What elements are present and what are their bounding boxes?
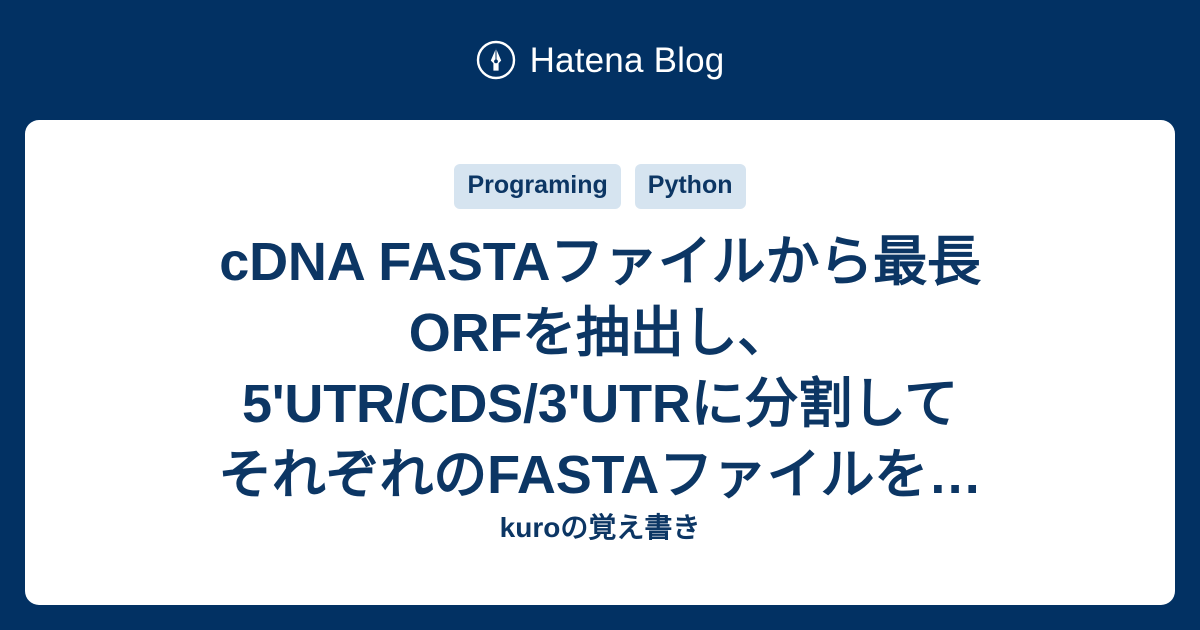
tag-python[interactable]: Python <box>635 164 746 209</box>
brand-name: Hatena Blog <box>530 43 725 78</box>
blog-name: kuroの覚え書き <box>500 511 701 545</box>
hatena-pen-nib-icon <box>476 40 516 80</box>
og-image-canvas: Hatena Blog Programing Python cDNA FASTA… <box>0 0 1200 630</box>
tag-programing[interactable]: Programing <box>454 164 620 209</box>
entry-card: Programing Python cDNA FASTAファイルから最長 ORF… <box>25 120 1175 605</box>
entry-title: cDNA FASTAファイルから最長 ORFを抽出し、 5'UTR/CDS/3'… <box>218 227 982 511</box>
entry-title-line-3: 5'UTR/CDS/3'UTRに分割して <box>242 374 958 434</box>
tag-list: Programing Python <box>454 164 745 209</box>
entry-title-line-2: ORFを抽出し、 <box>409 303 791 363</box>
entry-title-line-1: cDNA FASTAファイルから最長 <box>219 232 980 292</box>
entry-title-line-4: それぞれのFASTAファイルを… <box>218 445 982 505</box>
hatena-blog-header: Hatena Blog <box>0 0 1200 120</box>
